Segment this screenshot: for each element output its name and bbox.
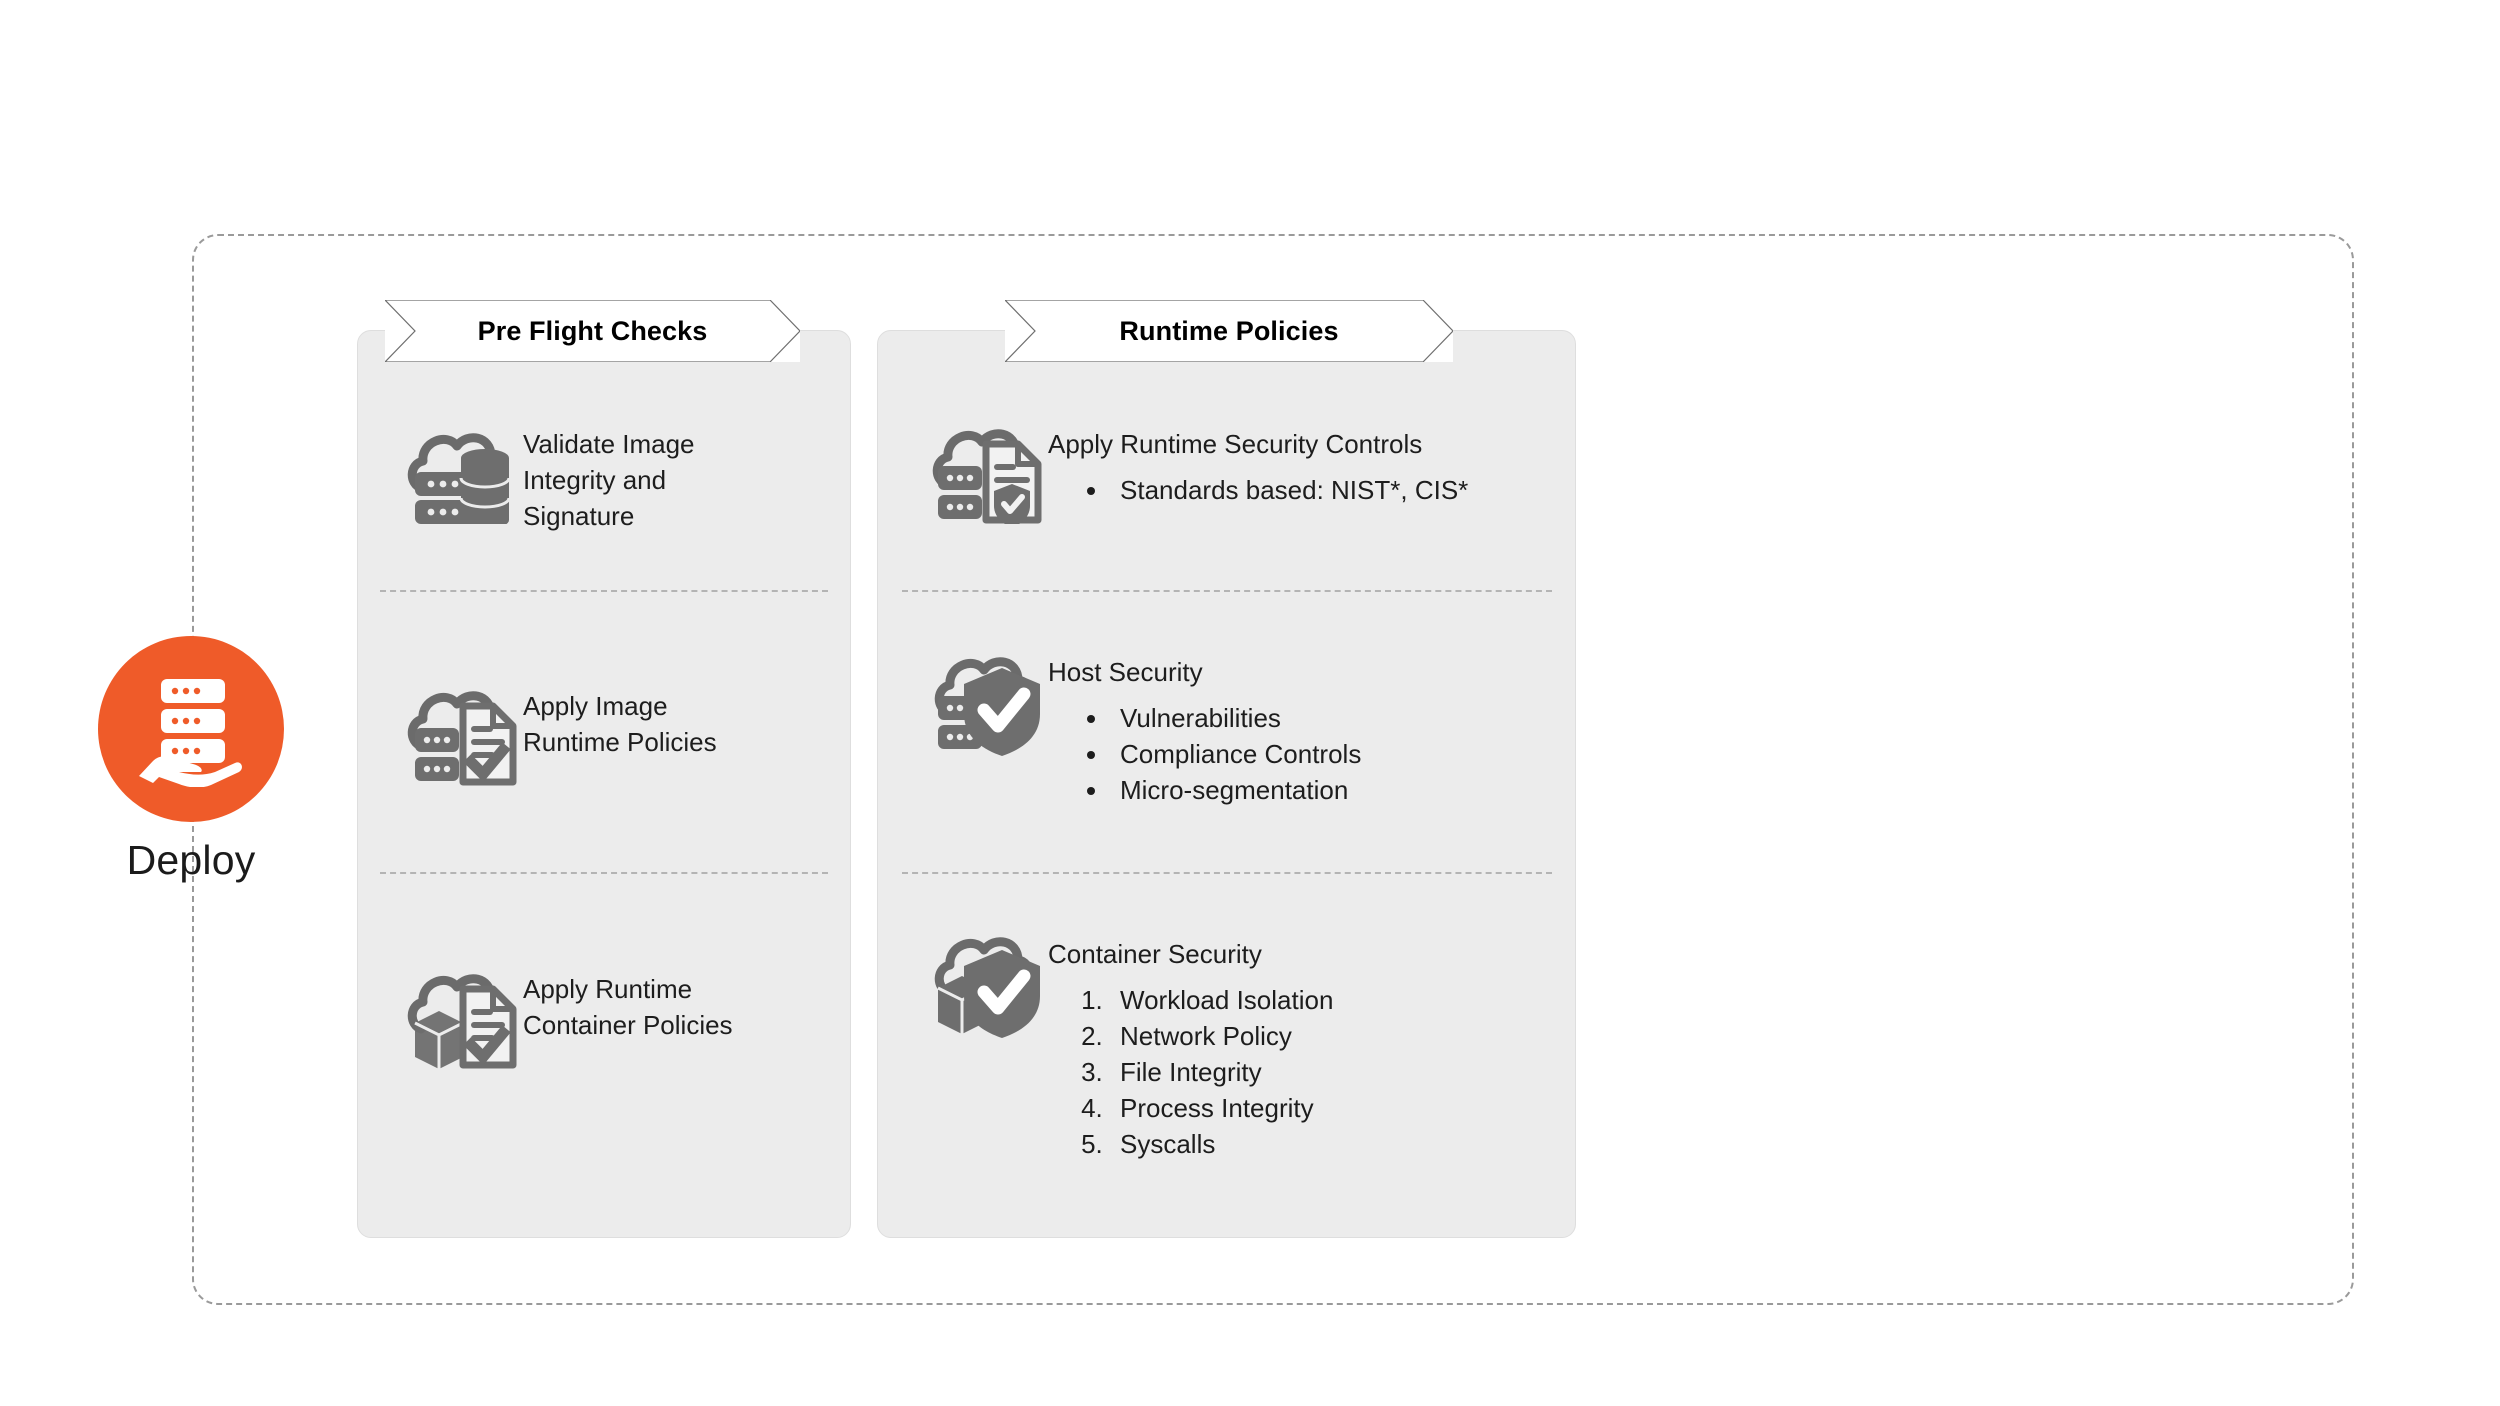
list-entry: Network Policy <box>1110 1018 1560 1054</box>
list-item[interactable]: Host Security Vulnerabilities Compliance… <box>930 648 1560 808</box>
deploy-stage-label: Deploy <box>98 840 284 881</box>
item-bullet-list: Vulnerabilities Compliance Controls Micr… <box>1048 700 1560 808</box>
list-item[interactable]: Apply Runtime Container Policies <box>405 965 835 1069</box>
item-title: Validate Image Integrity and Signature <box>523 426 753 534</box>
item-title: Container Security <box>1048 936 1560 972</box>
list-entry: Syscalls <box>1110 1126 1560 1162</box>
item-separator <box>380 590 828 592</box>
deploy-stage-node: Deploy <box>98 636 284 881</box>
cloud-server-document-shield-icon <box>930 420 1048 524</box>
list-entry: Workload Isolation <box>1110 982 1560 1018</box>
item-title: Host Security <box>1048 654 1560 690</box>
item-bullet-list: Standards based: NIST*, CIS* <box>1048 472 1560 508</box>
list-entry: Standards based: NIST*, CIS* <box>1110 472 1560 508</box>
item-separator <box>902 590 1552 592</box>
list-entry: Compliance Controls <box>1110 736 1560 772</box>
banner-pre-flight-checks: Pre Flight Checks <box>385 300 800 362</box>
cloud-server-shield-check-icon <box>930 648 1048 752</box>
item-separator <box>902 872 1552 874</box>
list-item[interactable]: Apply Image Runtime Policies <box>405 682 835 786</box>
banner-label: Runtime Policies <box>1119 316 1338 347</box>
item-separator <box>380 872 828 874</box>
list-entry: Process Integrity <box>1110 1090 1560 1126</box>
list-item[interactable]: Validate Image Integrity and Signature <box>405 420 835 534</box>
list-item[interactable]: Container Security Workload Isolation Ne… <box>930 930 1560 1162</box>
cloud-server-document-check-icon <box>405 682 523 786</box>
cloud-container-document-check-icon <box>405 965 523 1069</box>
cloud-server-database-icon <box>405 420 523 524</box>
deploy-icon-circle <box>98 636 284 822</box>
banner-label: Pre Flight Checks <box>478 316 708 347</box>
item-numbered-list: Workload Isolation Network Policy File I… <box>1048 982 1560 1162</box>
list-entry: Vulnerabilities <box>1110 700 1560 736</box>
list-entry: Micro-segmentation <box>1110 772 1560 808</box>
cloud-container-shield-check-icon <box>930 930 1048 1034</box>
list-item[interactable]: Apply Runtime Security Controls Standard… <box>930 420 1560 524</box>
item-title: Apply Runtime Security Controls <box>1048 426 1560 462</box>
item-title: Apply Runtime Container Policies <box>523 971 753 1043</box>
banner-runtime-policies: Runtime Policies <box>1005 300 1453 362</box>
list-entry: File Integrity <box>1110 1054 1560 1090</box>
item-title: Apply Image Runtime Policies <box>523 688 753 760</box>
